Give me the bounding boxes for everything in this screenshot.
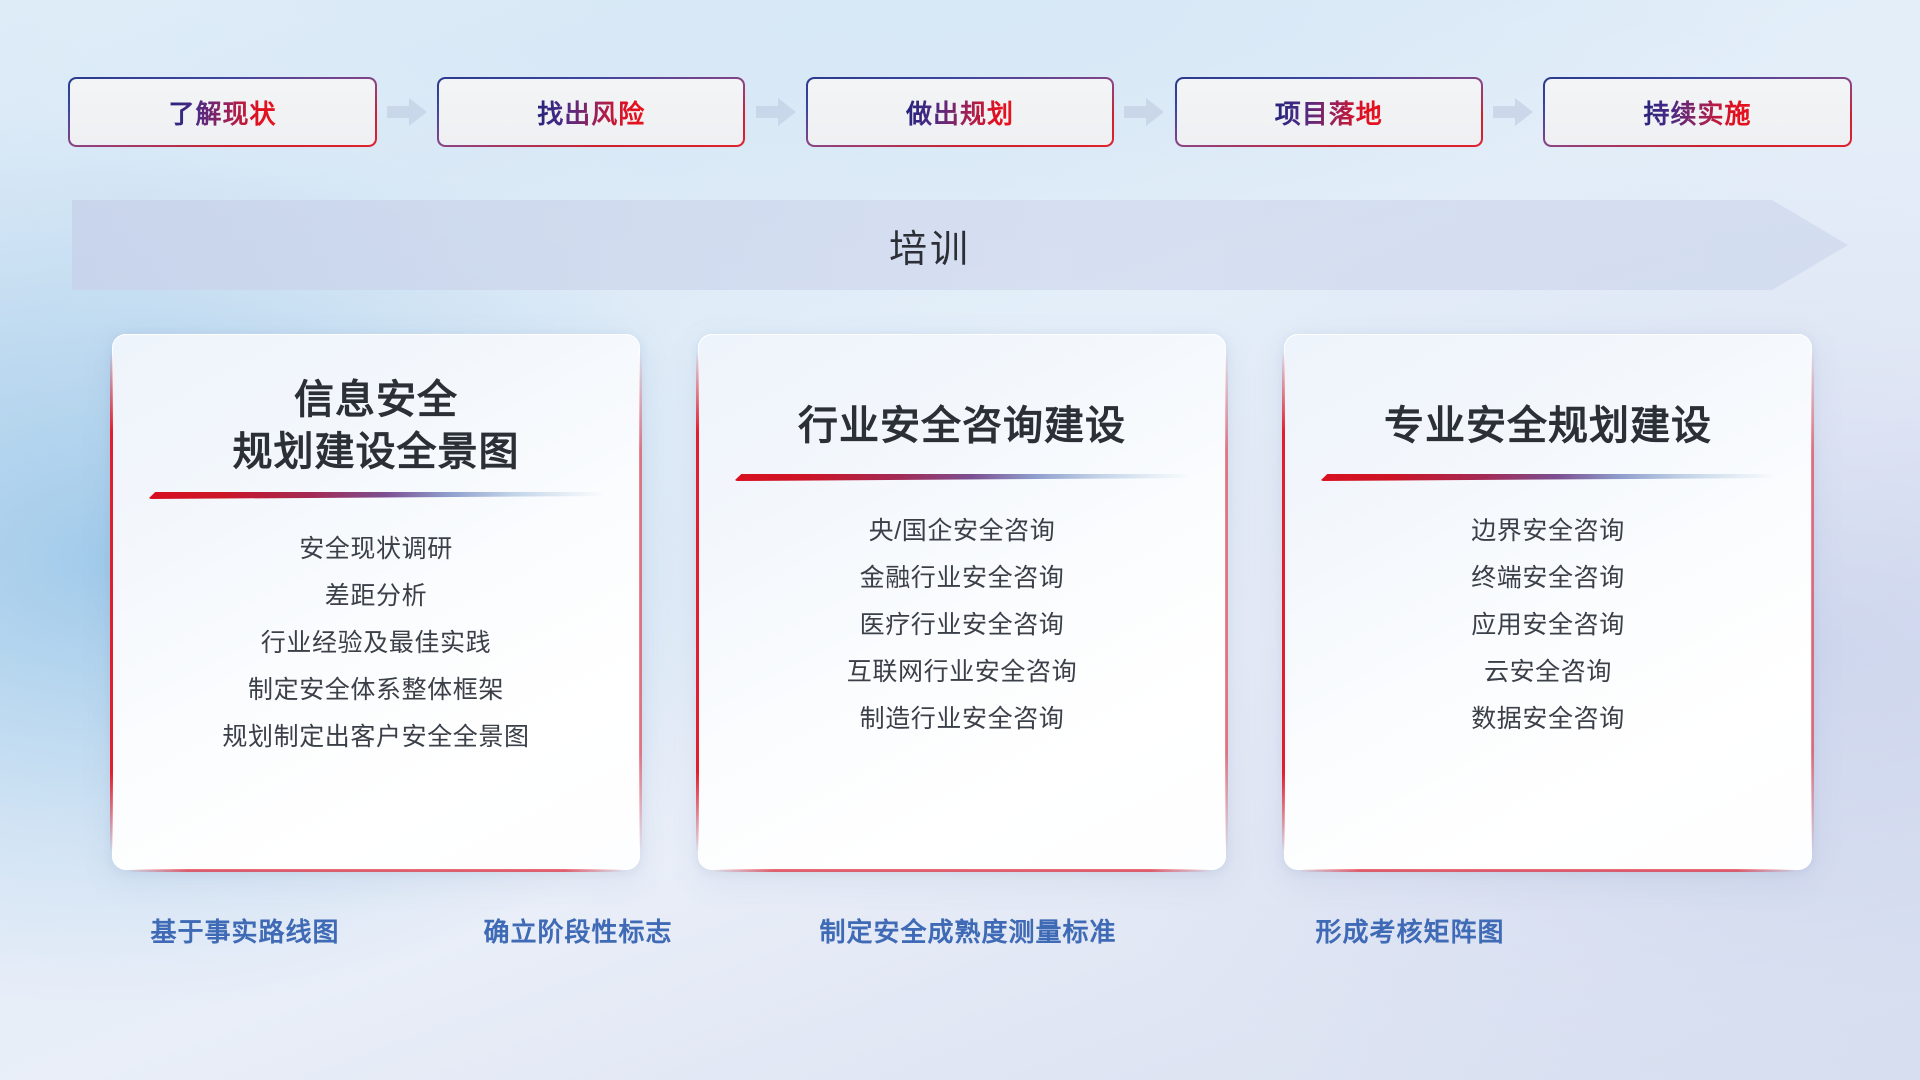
card-title: 专业安全规划建设 <box>1284 334 1812 460</box>
chevron-right-arrow-icon <box>1491 95 1535 129</box>
card-professional-security-planning[interactable]: 专业安全规划建设 边界安全咨询 终端安全咨询 应用安全咨询 云安全咨询 数据安全… <box>1284 334 1812 870</box>
card-title: 行业安全咨询建设 <box>698 334 1226 460</box>
banner-title: 培训 <box>72 200 1848 290</box>
footer-caption-3: 制定安全成熟度测量标准 <box>819 912 1116 949</box>
chevron-right-arrow-icon <box>754 95 798 129</box>
step-label-4: 项目落地 <box>1275 94 1383 131</box>
list-item: 央/国企安全咨询 <box>722 519 1202 544</box>
chevron-right-arrow-icon <box>385 95 429 129</box>
step-box-2[interactable]: 找出风险 <box>439 79 744 145</box>
list-item: 制造行业安全咨询 <box>722 707 1202 732</box>
step-label-5: 持续实施 <box>1643 94 1751 131</box>
card-accent-edge-right <box>1811 352 1814 852</box>
card-information-security-blueprint[interactable]: 信息安全 规划建设全景图 安全现状调研 差距分析 行业经验及最佳实践 制定安全体… <box>112 334 640 870</box>
list-item: 边界安全咨询 <box>1308 519 1788 544</box>
card-item-list: 边界安全咨询 终端安全咨询 应用安全咨询 云安全咨询 数据安全咨询 <box>1284 481 1812 732</box>
list-item: 制定安全体系整体框架 <box>136 678 616 703</box>
card-accent-edge-left <box>110 352 113 852</box>
chevron-right-arrow-icon <box>1122 95 1166 129</box>
slide-canvas: 了解现状 找出风险 做出规划 项目落地 <box>0 0 1920 1080</box>
card-item-list: 安全现状调研 差距分析 行业经验及最佳实践 制定安全体系整体框架 规划制定出客户… <box>112 499 640 750</box>
card-industry-security-consulting[interactable]: 行业安全咨询建设 央/国企安全咨询 金融行业安全咨询 医疗行业安全咨询 互联网行… <box>698 334 1226 870</box>
step-box-5[interactable]: 持续实施 <box>1545 79 1850 145</box>
footer-caption-2: 确立阶段性标志 <box>483 912 672 949</box>
card-divider <box>1320 474 1776 481</box>
card-title: 信息安全 规划建设全景图 <box>112 334 640 478</box>
card-accent-edge-bottom <box>714 869 1210 872</box>
list-item: 行业经验及最佳实践 <box>136 631 616 656</box>
footer-caption-1: 基于事实路线图 <box>150 912 339 949</box>
card-accent-edge-left <box>1282 352 1285 852</box>
list-item: 应用安全咨询 <box>1308 613 1788 638</box>
step-label-2: 找出风险 <box>537 94 645 131</box>
card-accent-edge-bottom <box>1300 869 1796 872</box>
cards-row: 信息安全 规划建设全景图 安全现状调研 差距分析 行业经验及最佳实践 制定安全体… <box>112 334 1812 874</box>
list-item: 终端安全咨询 <box>1308 566 1788 591</box>
card-item-list: 央/国企安全咨询 金融行业安全咨询 医疗行业安全咨询 互联网行业安全咨询 制造行… <box>698 481 1226 732</box>
footer-captions-row: 基于事实路线图 确立阶段性标志 制定安全成熟度测量标准 形成考核矩阵图 <box>0 912 1920 962</box>
list-item: 差距分析 <box>136 584 616 609</box>
step-box-4[interactable]: 项目落地 <box>1176 79 1481 145</box>
card-divider <box>734 474 1190 481</box>
card-accent-edge-bottom <box>128 869 624 872</box>
card-accent-edge-right <box>1225 352 1228 852</box>
step-box-3[interactable]: 做出规划 <box>808 79 1113 145</box>
list-item: 互联网行业安全咨询 <box>722 660 1202 685</box>
list-item: 医疗行业安全咨询 <box>722 613 1202 638</box>
footer-caption-4: 形成考核矩阵图 <box>1315 912 1504 949</box>
list-item: 云安全咨询 <box>1308 660 1788 685</box>
step-box-1[interactable]: 了解现状 <box>70 79 375 145</box>
card-divider <box>148 492 604 499</box>
step-label-1: 了解现状 <box>168 94 276 131</box>
process-steps-row: 了解现状 找出风险 做出规划 项目落地 <box>70 78 1850 146</box>
training-banner: 培训 <box>72 200 1848 290</box>
list-item: 数据安全咨询 <box>1308 707 1788 732</box>
list-item: 规划制定出客户安全全景图 <box>136 725 616 750</box>
card-accent-edge-right <box>639 352 642 852</box>
list-item: 安全现状调研 <box>136 537 616 562</box>
step-label-3: 做出规划 <box>906 94 1014 131</box>
list-item: 金融行业安全咨询 <box>722 566 1202 591</box>
card-accent-edge-left <box>696 352 699 852</box>
